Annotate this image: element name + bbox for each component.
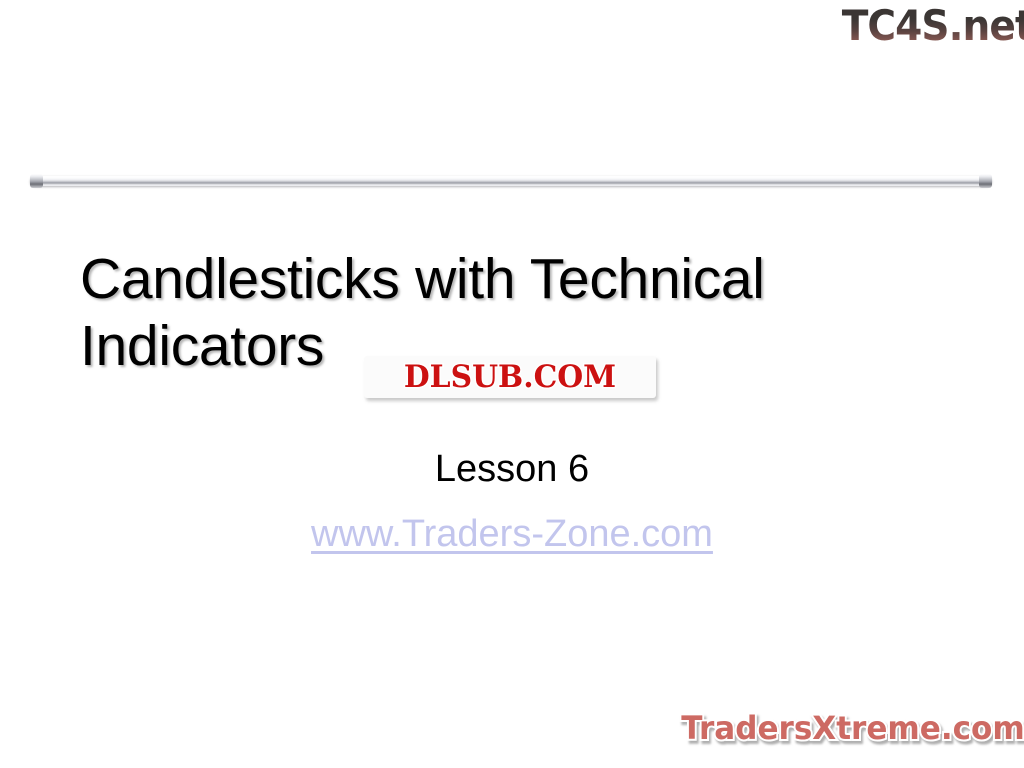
divider-bar-body [30,176,992,186]
dlsub-com-watermark: DLSUB.COM [362,354,662,404]
divider-cap-left [30,174,43,188]
presentation-slide: TC4S.net Candlesticks with Technical Ind… [0,0,1024,768]
dlsub-watermark-text: DLSUB.COM [368,355,652,399]
divider-cap-right [979,174,992,188]
decorative-divider-bar [30,172,992,192]
traders-zone-link[interactable]: www.Traders-Zone.com [311,513,713,555]
lesson-label: Lesson 6 [162,443,862,495]
tradersxtreme-com-watermark: TradersXtreme.com [681,706,1019,752]
tc4s-net-logo: TC4S.net [842,2,1024,52]
site-link-row: www.Traders-Zone.com [162,508,862,560]
